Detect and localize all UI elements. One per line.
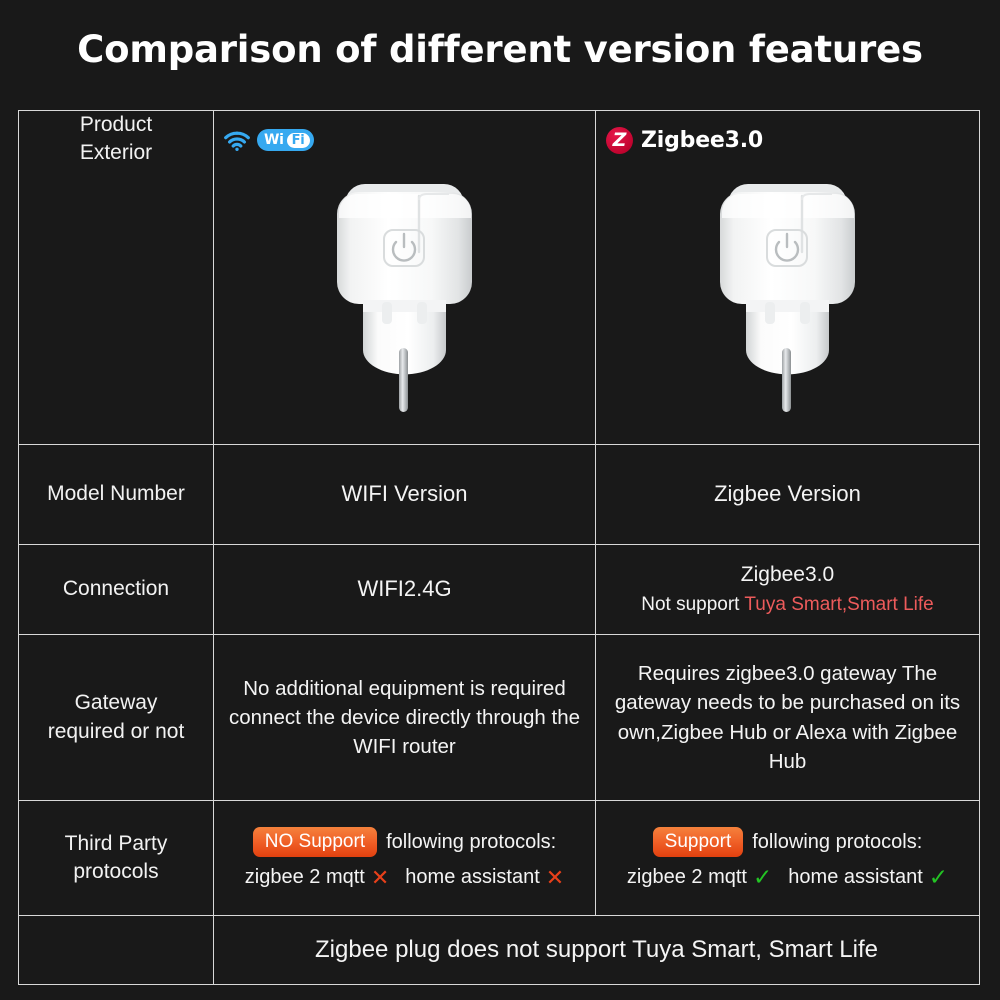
zigbee-connection-main: Zigbee3.0	[641, 561, 934, 590]
cell-wifi-protocols: NO Support following protocols: zigbee 2…	[214, 801, 596, 915]
cell-value: Requires zigbee3.0 gateway The gateway n…	[604, 659, 971, 775]
footer-note-cell: Zigbee plug does not support Tuya Smart,…	[214, 916, 979, 984]
zigbee-support-badge: Support	[653, 827, 744, 857]
table-row-footer-note: Zigbee plug does not support Tuya Smart,…	[19, 916, 979, 984]
comparison-infographic: Comparison of different version features…	[0, 0, 1000, 1000]
table-row-model-number: Model Number WIFI Version Zigbee Version	[19, 445, 979, 545]
zigbee-protocol-item-zigbee2mqtt: zigbee 2 mqtt	[627, 866, 747, 889]
zigbee-note-prefix: Not support	[641, 594, 744, 615]
wifi-protocol-item-zigbee2mqtt: zigbee 2 mqtt	[245, 866, 365, 889]
row-label-text: Third Party protocols	[65, 830, 168, 887]
cell-value-group: Zigbee3.0 Not support Tuya Smart,Smart L…	[641, 561, 934, 618]
zigbee-protocol-items: zigbee 2 mqtt ✓ home assistant ✓	[627, 866, 948, 889]
table-row-third-party-protocols: Third Party protocols NO Support followi…	[19, 801, 979, 916]
cell-value: WIFI Version	[342, 479, 468, 509]
wifi-protocol-items: zigbee 2 mqtt ✕ home assistant ✕	[245, 866, 564, 889]
cell-wifi-model-number: WIFI Version	[214, 445, 596, 544]
cell-zigbee-connection: Zigbee3.0 Not support Tuya Smart,Smart L…	[596, 545, 979, 634]
zigbee-note-accent: Tuya Smart,Smart Life	[744, 594, 933, 615]
page-title: Comparison of different version features	[0, 28, 1000, 71]
cell-wifi-connection: WIFI2.4G	[214, 545, 596, 634]
table-row-product-exterior: Product Exterior	[19, 111, 979, 445]
cell-zigbee-product-exterior: Z Zigbee3.0	[596, 111, 979, 444]
row-label-text: Gateway required or not	[48, 689, 185, 746]
cross-icon: ✕	[371, 867, 389, 889]
check-icon: ✓	[929, 866, 948, 889]
comparison-table: Product Exterior	[18, 110, 980, 985]
check-icon: ✓	[753, 866, 772, 889]
row-label-model-number: Model Number	[19, 445, 214, 544]
wifi-product-image	[214, 111, 595, 444]
wifi-protocol-heading-text: following protocols:	[386, 831, 556, 854]
row-label-text: Model Number	[47, 480, 185, 508]
wifi-protocol-heading: NO Support following protocols:	[253, 827, 556, 857]
row-label-line1: Third Party	[65, 830, 168, 858]
row-label-gateway: Gateway required or not	[19, 635, 214, 800]
footer-note-text: Zigbee plug does not support Tuya Smart,…	[315, 936, 878, 964]
cell-wifi-gateway: No additional equipment is required conn…	[214, 635, 596, 800]
zigbee-protocol-item-home-assistant: home assistant	[788, 866, 923, 889]
cell-zigbee-protocols: Support following protocols: zigbee 2 mq…	[596, 801, 979, 915]
cell-zigbee-model-number: Zigbee Version	[596, 445, 979, 544]
row-label-line1: Gateway	[48, 689, 185, 717]
cell-wifi-product-exterior: Wi Fi	[214, 111, 596, 444]
table-row-gateway: Gateway required or not No additional eq…	[19, 635, 979, 801]
cross-icon: ✕	[546, 867, 564, 889]
row-label-connection: Connection	[19, 545, 214, 634]
cell-value: Zigbee Version	[714, 479, 861, 509]
zigbee-protocol-block: Support following protocols: zigbee 2 mq…	[604, 827, 971, 889]
table-row-connection: Connection WIFI2.4G Zigbee3.0 Not suppor…	[19, 545, 979, 635]
row-label-text: Product Exterior	[80, 111, 152, 444]
wifi-protocol-block: NO Support following protocols: zigbee 2…	[222, 827, 587, 889]
wifi-protocol-item-home-assistant: home assistant	[405, 866, 540, 889]
cell-value: No additional equipment is required conn…	[222, 674, 587, 761]
row-label-third-party-protocols: Third Party protocols	[19, 801, 214, 915]
zigbee-protocol-heading: Support following protocols:	[653, 827, 923, 857]
row-label-product-exterior: Product Exterior	[19, 111, 214, 444]
zigbee-connection-note: Not support Tuya Smart,Smart Life	[641, 592, 934, 618]
wifi-support-badge: NO Support	[253, 827, 377, 857]
row-label-line2: protocols	[65, 858, 168, 886]
zigbee-product-image	[596, 111, 979, 444]
footer-empty-cell	[19, 916, 214, 984]
row-label-line2: Exterior	[80, 139, 152, 167]
zigbee-protocol-heading-text: following protocols:	[752, 831, 922, 854]
cell-value: WIFI2.4G	[357, 574, 451, 604]
cell-zigbee-gateway: Requires zigbee3.0 gateway The gateway n…	[596, 635, 979, 800]
row-label-text: Connection	[63, 575, 169, 603]
row-label-line1: Product	[80, 111, 152, 139]
row-label-line2: required or not	[48, 718, 185, 746]
